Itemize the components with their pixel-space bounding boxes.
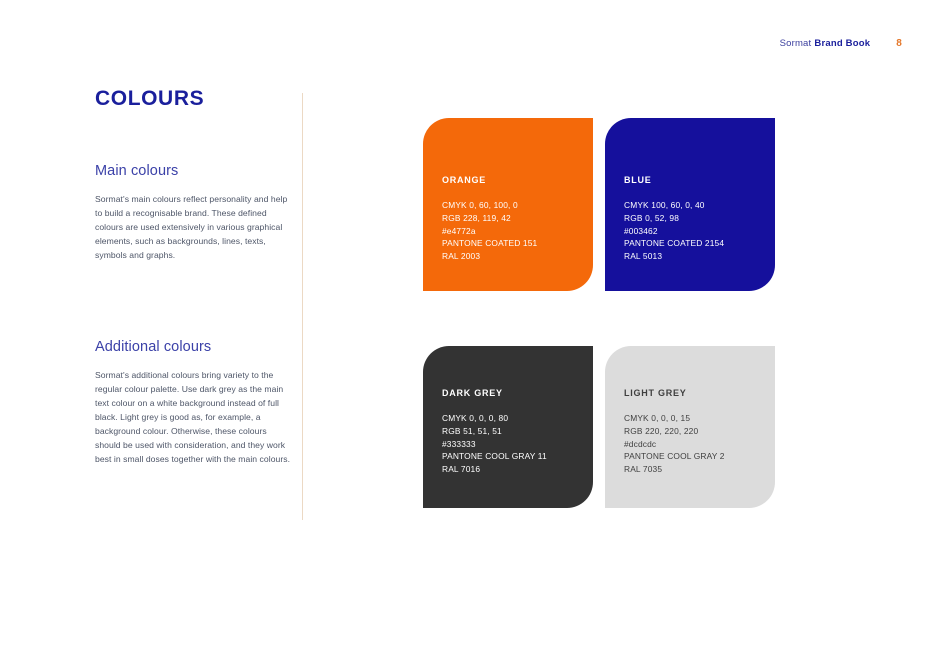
swatch-row-additional: DARK GREY CMYK 0, 0, 0, 80 RGB 51, 51, 5…: [423, 346, 780, 508]
swatch-spec-rgb: RGB 228, 119, 42: [442, 212, 593, 225]
swatch-specs: CMYK 0, 0, 0, 80 RGB 51, 51, 51 #333333 …: [442, 412, 593, 508]
section-heading-main: Main colours: [95, 163, 291, 180]
section-body-main: Sormat's main colours reflect personalit…: [95, 193, 291, 263]
swatch-spec-ral: RAL 7035: [624, 463, 775, 476]
swatch-spec-hex: #333333: [442, 438, 593, 451]
swatch-spec-ral: RAL 7016: [442, 463, 593, 476]
swatch-orange: ORANGE CMYK 0, 60, 100, 0 RGB 228, 119, …: [423, 118, 593, 291]
page-title: COLOURS: [95, 88, 295, 109]
swatch-specs: CMYK 100, 60, 0, 40 RGB 0, 52, 98 #00346…: [624, 199, 775, 291]
brand-label: SormatBrand Book: [780, 38, 871, 49]
swatch-spec-pantone: PANTONE COATED 2154: [624, 237, 775, 250]
swatch-spec-cmyk: CMYK 0, 0, 0, 15: [624, 412, 775, 425]
section-body-additional: Sormat's additional colours bring variet…: [95, 369, 291, 466]
section-heading-additional: Additional colours: [95, 339, 291, 356]
page-number: 8: [896, 38, 902, 49]
section-main-colours: Main colours Sormat's main colours refle…: [95, 163, 291, 263]
swatch-spec-rgb: RGB 220, 220, 220: [624, 425, 775, 438]
left-column: COLOURS Main colours Sormat's main colou…: [95, 88, 295, 109]
swatch-spec-ral: RAL 2003: [442, 250, 593, 263]
vertical-divider: [302, 93, 303, 520]
swatch-spec-rgb: RGB 51, 51, 51: [442, 425, 593, 438]
section-additional-colours: Additional colours Sormat's additional c…: [95, 339, 291, 467]
swatch-spec-hex: #dcdcdc: [624, 438, 775, 451]
swatch-spec-ral: RAL 5013: [624, 250, 775, 263]
swatch-spec-hex: #003462: [624, 225, 775, 238]
swatch-name: DARK GREY: [442, 388, 593, 398]
swatch-spec-cmyk: CMYK 0, 60, 100, 0: [442, 199, 593, 212]
swatch-spec-cmyk: CMYK 100, 60, 0, 40: [624, 199, 775, 212]
swatch-light-grey: LIGHT GREY CMYK 0, 0, 0, 15 RGB 220, 220…: [605, 346, 775, 508]
colour-swatch-grid: ORANGE CMYK 0, 60, 100, 0 RGB 228, 119, …: [423, 118, 780, 508]
swatch-row-main: ORANGE CMYK 0, 60, 100, 0 RGB 228, 119, …: [423, 118, 780, 291]
page-header: SormatBrand Book 8: [780, 38, 902, 49]
swatch-spec-cmyk: CMYK 0, 0, 0, 80: [442, 412, 593, 425]
swatch-dark-grey: DARK GREY CMYK 0, 0, 0, 80 RGB 51, 51, 5…: [423, 346, 593, 508]
swatch-specs: CMYK 0, 0, 0, 15 RGB 220, 220, 220 #dcdc…: [624, 412, 775, 508]
swatch-blue: BLUE CMYK 100, 60, 0, 40 RGB 0, 52, 98 #…: [605, 118, 775, 291]
brand-name: Brand Book: [814, 38, 870, 49]
brand-prefix: Sormat: [780, 38, 812, 49]
swatch-spec-pantone: PANTONE COOL GRAY 2: [624, 450, 775, 463]
swatch-specs: CMYK 0, 60, 100, 0 RGB 228, 119, 42 #e47…: [442, 199, 593, 291]
swatch-name: ORANGE: [442, 175, 593, 185]
swatch-spec-rgb: RGB 0, 52, 98: [624, 212, 775, 225]
swatch-spec-pantone: PANTONE COOL GRAY 11: [442, 450, 593, 463]
swatch-name: LIGHT GREY: [624, 388, 775, 398]
swatch-spec-pantone: PANTONE COATED 151: [442, 237, 593, 250]
swatch-spec-hex: #e4772a: [442, 225, 593, 238]
swatch-name: BLUE: [624, 175, 775, 185]
